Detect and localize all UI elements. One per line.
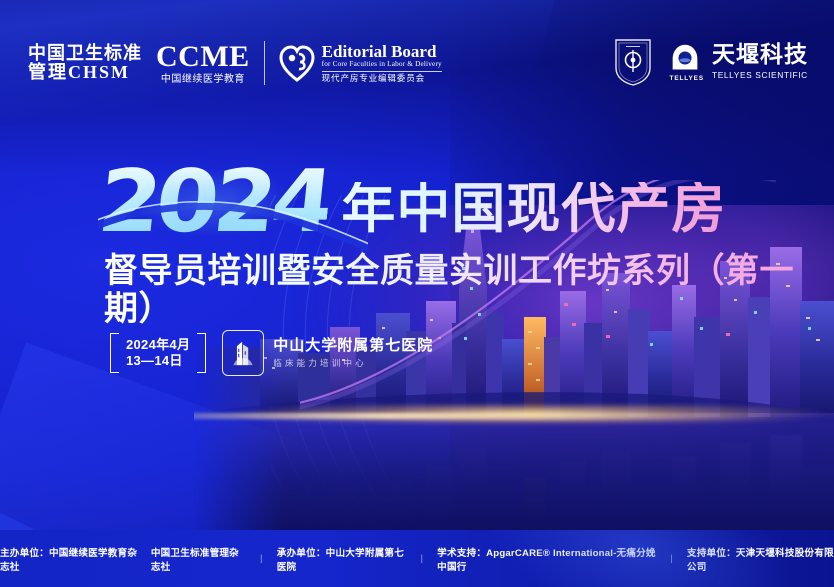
footer-item-organizer-2: 中国卫生标准管理杂志社 bbox=[151, 545, 246, 573]
date-badge: 2024年4月 13—14日 bbox=[110, 333, 206, 374]
hospital-building-icon bbox=[222, 330, 264, 376]
title-row: 2024 年中国现代产房 bbox=[104, 166, 834, 240]
editorial-board-logo: Editorial Board for Core Faculties in La… bbox=[279, 43, 442, 82]
ccme-wordmark: CCME bbox=[156, 42, 250, 72]
meta-block: 2024年4月 13—14日 中山大学附属第七医院 临床能力培训中心 bbox=[110, 330, 433, 376]
year-2024: 2024 bbox=[95, 166, 333, 240]
venue-name: 中山大学附属第七医院 bbox=[273, 337, 433, 354]
editorial-board-cn: 现代产房专业编辑委员会 bbox=[322, 74, 442, 83]
editorial-board-subtitle: for Core Faculties in Labor & Delivery bbox=[322, 61, 442, 72]
footer-item-host: 承办单位：中山大学附属第七医院 bbox=[277, 545, 407, 573]
tellyes-bell-icon bbox=[670, 43, 700, 73]
date-line-1: 2024年4月 bbox=[126, 337, 190, 353]
title-subtitle: 督导员培训暨安全质量实训工作坊系列（第一期） bbox=[104, 252, 834, 328]
date-line-2: 13—14日 bbox=[126, 353, 190, 369]
header-logos-right: TELLYES 天堰科技 TELLYES SCIENTIFIC bbox=[614, 38, 808, 86]
venue-text: 中山大学附属第七医院 临床能力培训中心 bbox=[273, 337, 433, 369]
water-surface bbox=[194, 413, 834, 535]
title-block: 2024 年中国现代产房 督导员培训暨安全质量实训工作坊系列（第一期） bbox=[104, 166, 834, 328]
footer-item-organizer-1: 主办单位：中国继续医学教育杂志社 bbox=[0, 545, 138, 573]
chsm-line2: 管理CHSM bbox=[28, 63, 142, 82]
conference-poster: 中国卫生标准 管理CHSM CCME 中国继续医学教育 Editorial Bo… bbox=[0, 0, 834, 587]
chsm-line1: 中国卫生标准 bbox=[28, 44, 142, 63]
editorial-board-title: Editorial Board bbox=[322, 43, 442, 61]
logo-divider bbox=[264, 41, 265, 85]
sysu-emblem-icon bbox=[614, 38, 652, 86]
tellyes-mark: TELLYES bbox=[670, 43, 704, 82]
heart-icon bbox=[279, 44, 315, 82]
tellyes-logo: TELLYES 天堰科技 TELLYES SCIENTIFIC bbox=[670, 43, 808, 82]
tellyes-text: 天堰科技 TELLYES SCIENTIFIC bbox=[712, 43, 808, 80]
footer-credits: 主办单位：中国继续医学教育杂志社 中国卫生标准管理杂志社 | 承办单位：中山大学… bbox=[0, 545, 834, 573]
tellyes-mark-caption: TELLYES bbox=[670, 75, 704, 82]
tellyes-cn: 天堰科技 bbox=[712, 43, 808, 66]
title-main: 年中国现代产房 bbox=[341, 182, 726, 240]
venue-sub: 临床能力培训中心 bbox=[273, 357, 433, 369]
footer-separator-1: | bbox=[246, 553, 277, 564]
venue-logo: 中山大学附属第七医院 临床能力培训中心 bbox=[222, 330, 433, 376]
ccme-subtitle: 中国继续医学教育 bbox=[156, 75, 250, 85]
ccme-logo: CCME 中国继续医学教育 bbox=[156, 42, 250, 85]
shoreline-streak bbox=[194, 413, 770, 419]
tellyes-en: TELLYES SCIENTIFIC bbox=[712, 70, 808, 80]
footer-separator-2: | bbox=[406, 553, 437, 564]
editorial-board-text: Editorial Board for Core Faculties in La… bbox=[322, 43, 442, 82]
header-logos-left: 中国卫生标准 管理CHSM CCME 中国继续医学教育 Editorial Bo… bbox=[28, 41, 442, 85]
footer-item-sponsor: 支持单位：天津天堰科技股份有限公司 bbox=[687, 545, 834, 573]
chsm-logo: 中国卫生标准 管理CHSM bbox=[28, 44, 142, 83]
footer-bar: 主办单位：中国继续医学教育杂志社 中国卫生标准管理杂志社 | 承办单位：中山大学… bbox=[0, 530, 834, 587]
footer-separator-3: | bbox=[656, 553, 687, 564]
footer-item-academic-support: 学术支持：ApgarCARE® International-无痛分娩中国行 bbox=[437, 545, 656, 573]
